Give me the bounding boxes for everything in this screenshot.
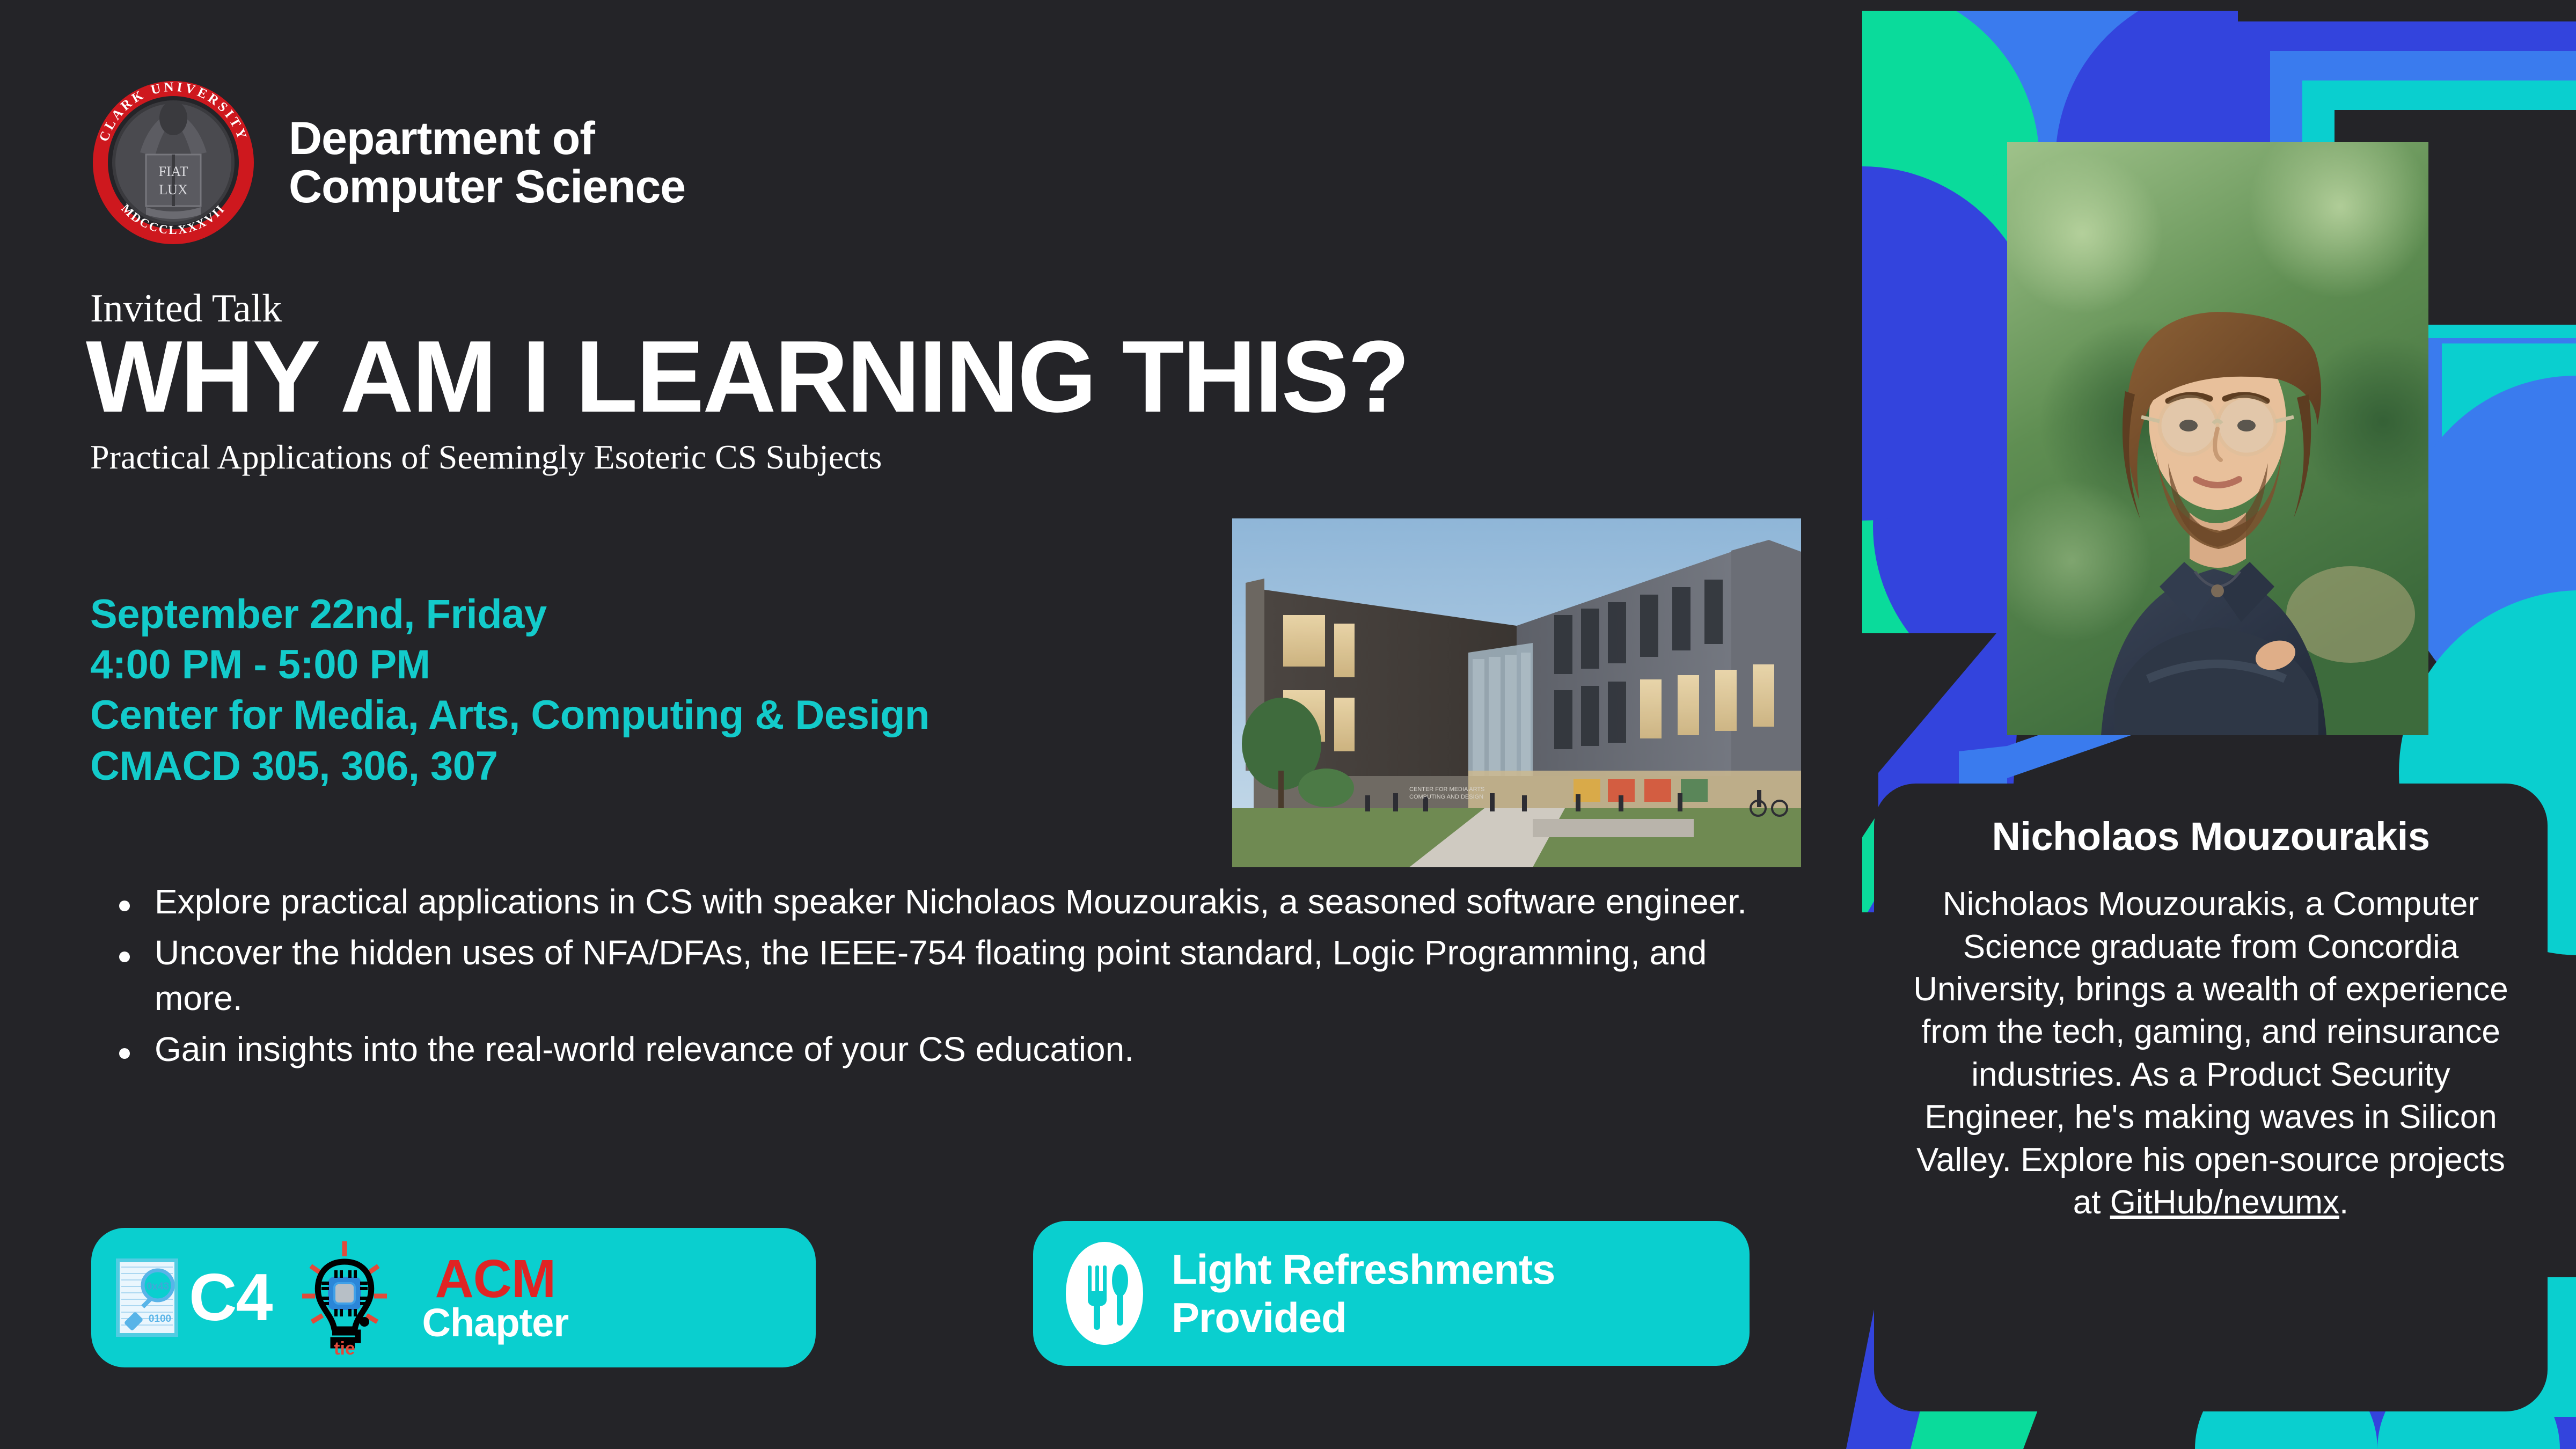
speaker-name: Nicholaos Mouzourakis <box>1908 815 2513 858</box>
github-link[interactable]: GitHub/nevumx <box>2110 1184 2339 1221</box>
left-content-column: FIAT LUX CLARK UNIVERSITY MDCCCLXXXVII D… <box>0 0 1846 1449</box>
speaker-bio-card: Nicholaos Mouzourakis Nicholaos Mouzoura… <box>1874 784 2548 1411</box>
acm-wordmark: ACM <box>435 1254 555 1304</box>
highlights-list: Explore practical applications in CS wit… <box>107 879 1782 1078</box>
svg-text:COMPUTING AND DESIGN: COMPUTING AND DESIGN <box>1409 794 1483 800</box>
clark-university-seal-icon: FIAT LUX CLARK UNIVERSITY MDCCCLXXXVII <box>90 79 257 246</box>
page-subtitle: Practical Applications of Seemingly Esot… <box>90 440 882 474</box>
tie-wordmark: tie <box>334 1338 355 1356</box>
svg-text:CENTER FOR MEDIA ARTS: CENTER FOR MEDIA ARTS <box>1409 786 1484 793</box>
bio-text-after-link: . <box>2339 1184 2348 1221</box>
department-line-2: Computer Science <box>289 163 685 211</box>
department-lockup: FIAT LUX CLARK UNIVERSITY MDCCCLXXXVII D… <box>90 79 685 246</box>
c4-magnifier-icon: 0x43 0100 <box>115 1257 179 1338</box>
speaker-portrait-photo <box>2007 142 2428 735</box>
c4-hex-label: 0x43 <box>147 1281 169 1292</box>
refreshments-badge: Light Refreshments Provided <box>1033 1221 1750 1366</box>
bio-text-before-link: Nicholaos Mouzourakis, a Computer Scienc… <box>1913 885 2508 1221</box>
refreshments-line-1: Light Refreshments <box>1172 1245 1555 1293</box>
acm-chapter-label: Chapter <box>422 1304 569 1342</box>
event-venue: Center for Media, Arts, Computing & Desi… <box>90 690 930 741</box>
page-title: WHY AM I LEARNING THIS? <box>86 322 1408 432</box>
list-item: Gain insights into the real-world releva… <box>107 1027 1782 1072</box>
speaker-panel: Nicholaos Mouzourakis Nicholaos Mouzoura… <box>1846 0 2576 1449</box>
sponsors-badge: 0x43 0100 C4 <box>91 1228 816 1367</box>
department-line-1: Department of <box>289 114 685 163</box>
event-rooms: CMACD 305, 306, 307 <box>90 741 930 792</box>
event-date: September 22nd, Friday <box>90 589 930 640</box>
refreshments-text: Light Refreshments Provided <box>1172 1245 1555 1342</box>
event-details: September 22nd, Friday 4:00 PM - 5:00 PM… <box>90 589 930 792</box>
c4-wordmark: C4 <box>189 1264 272 1331</box>
list-item: Uncover the hidden uses of NFA/DFAs, the… <box>107 930 1782 1021</box>
list-item: Explore practical applications in CS wit… <box>107 879 1782 925</box>
department-name: Department of Computer Science <box>289 114 685 211</box>
poster-canvas: FIAT LUX CLARK UNIVERSITY MDCCCLXXXVII D… <box>0 0 2576 1449</box>
acm-chapter-logo: ACM Chapter <box>422 1254 569 1342</box>
c4-binary-label: 0100 <box>149 1313 171 1324</box>
refreshments-line-2: Provided <box>1172 1293 1555 1342</box>
svg-text:LUX: LUX <box>159 182 188 197</box>
c4-logo: 0x43 0100 C4 <box>115 1257 272 1338</box>
event-time: 4:00 PM - 5:00 PM <box>90 640 930 690</box>
fork-and-spoon-icon <box>1064 1240 1145 1347</box>
speaker-bio: Nicholaos Mouzourakis, a Computer Scienc… <box>1908 883 2513 1224</box>
cmacd-building-photo: CENTER FOR MEDIA ARTS COMPUTING AND DESI… <box>1232 518 1801 867</box>
tie-lightbulb-icon: tie <box>299 1240 390 1356</box>
svg-text:FIAT: FIAT <box>159 164 188 179</box>
